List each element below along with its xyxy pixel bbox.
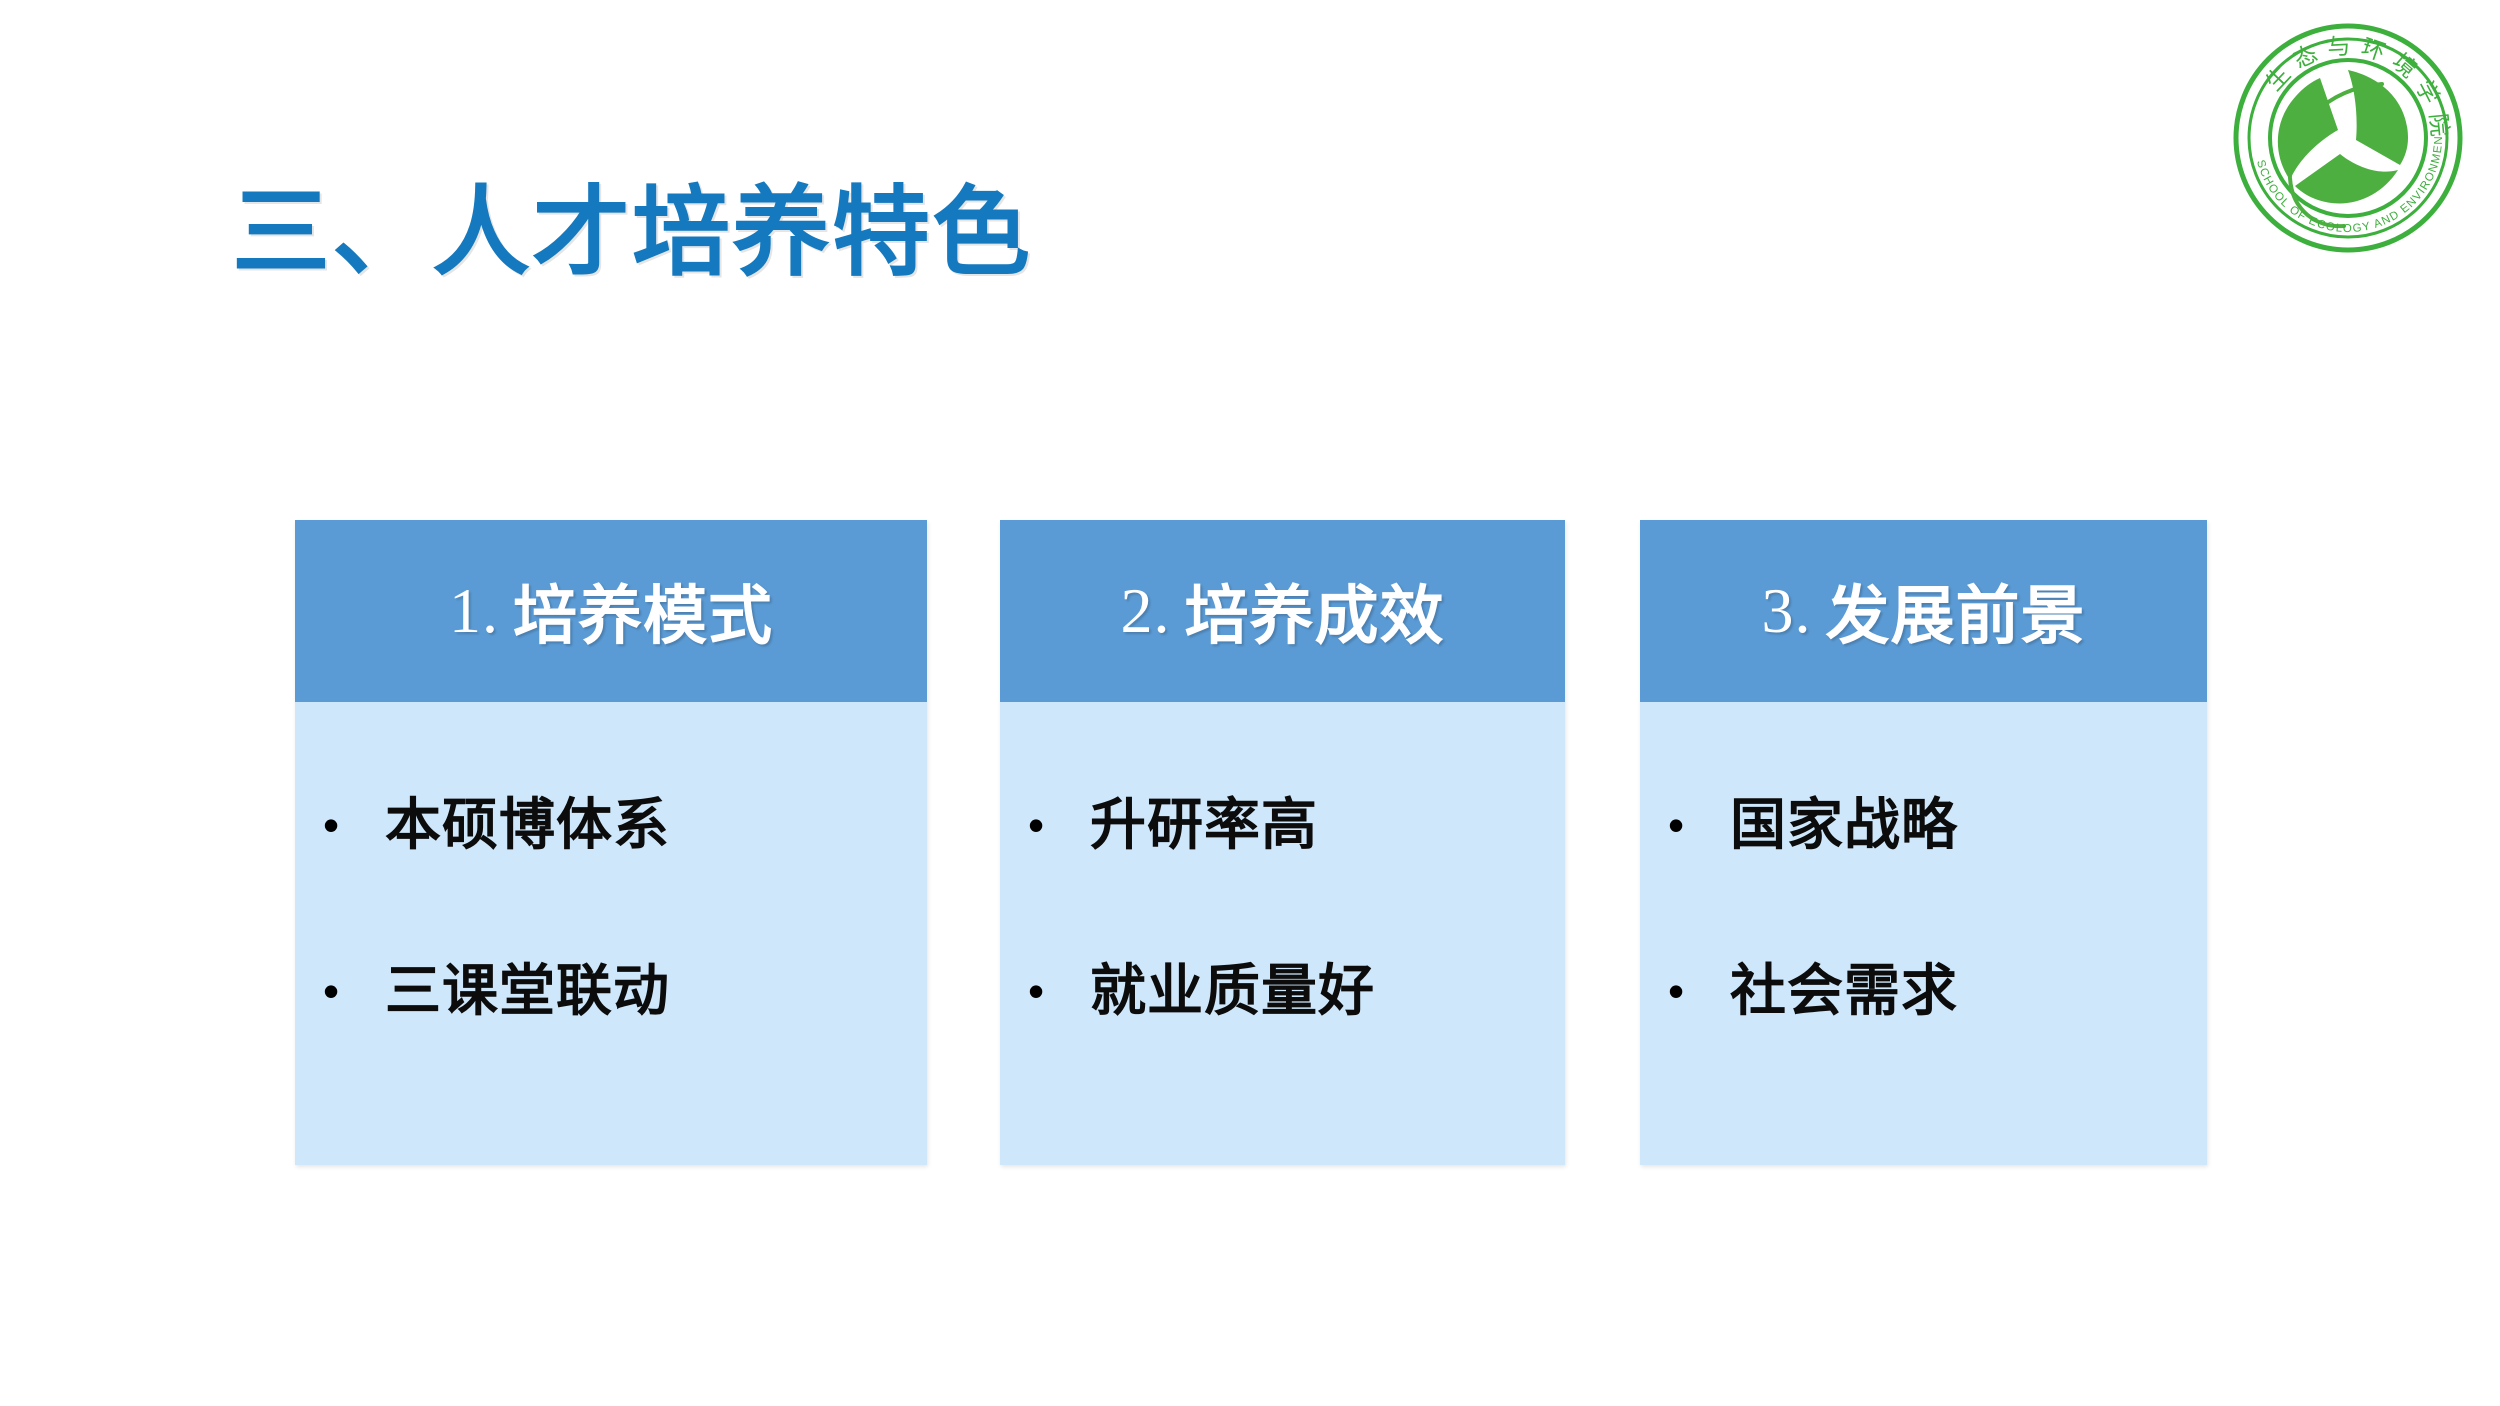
bullet-icon: •	[323, 960, 343, 1022]
list-item: • 升研率高	[1028, 794, 1565, 856]
feature-card-1[interactable]: 1. 培养模式 • 本硕博体系 • 三课堂联动	[295, 520, 927, 1165]
card-2-bullet-2: 就业质量好	[1090, 960, 1375, 1022]
card-1-title: 培养模式	[513, 565, 773, 657]
feature-card-2[interactable]: 2. 培养成效 • 升研率高 • 就业质量好	[1000, 520, 1565, 1165]
card-2-body: • 升研率高 • 就业质量好	[1000, 702, 1565, 1165]
card-3-body: • 国家战略 • 社会需求	[1640, 702, 2207, 1165]
card-3-title: 发展前景	[1826, 565, 2086, 657]
card-2-title: 培养成效	[1185, 565, 1445, 657]
feature-cards-row: 1. 培养模式 • 本硕博体系 • 三课堂联动 2. 培养成效	[0, 520, 2500, 1168]
page-title: 三、人才培养特色	[232, 176, 1032, 289]
card-1-bullet-1: 本硕博体系	[385, 794, 670, 856]
card-2-bullet-1: 升研率高	[1090, 794, 1318, 856]
card-1-body: • 本硕博体系 • 三课堂联动	[295, 702, 927, 1165]
bullet-icon: •	[1668, 794, 1688, 856]
bullet-icon: •	[323, 794, 343, 856]
card-2-header: 2. 培养成效	[1000, 520, 1565, 702]
card-1-number: 1.	[449, 574, 499, 648]
list-item: • 三课堂联动	[323, 960, 927, 1022]
card-3-bullet-1: 国家战略	[1730, 794, 1958, 856]
slide-canvas: 三、人才培养特色 生态与环境学院	[0, 0, 2500, 1406]
list-item: • 本硕博体系	[323, 794, 927, 856]
bullet-icon: •	[1028, 794, 1048, 856]
card-1-bullet-2: 三课堂联动	[385, 960, 670, 1022]
card-3-number: 3.	[1762, 574, 1812, 648]
card-3-bullet-2: 社会需求	[1730, 960, 1958, 1022]
bullet-icon: •	[1028, 960, 1048, 1022]
card-2-number: 2.	[1121, 574, 1171, 648]
feature-card-3[interactable]: 3. 发展前景 • 国家战略 • 社会需求	[1640, 520, 2207, 1165]
list-item: • 就业质量好	[1028, 960, 1565, 1022]
list-item: • 国家战略	[1668, 794, 2207, 856]
card-1-header: 1. 培养模式	[295, 520, 927, 702]
bullet-icon: •	[1668, 960, 1688, 1022]
card-3-header: 3. 发展前景	[1640, 520, 2207, 702]
list-item: • 社会需求	[1668, 960, 2207, 1022]
school-seal-logo: 生态与环境学院 SCHOOL OF ECOLOGY AND ENVIRONMEN…	[2232, 22, 2464, 254]
